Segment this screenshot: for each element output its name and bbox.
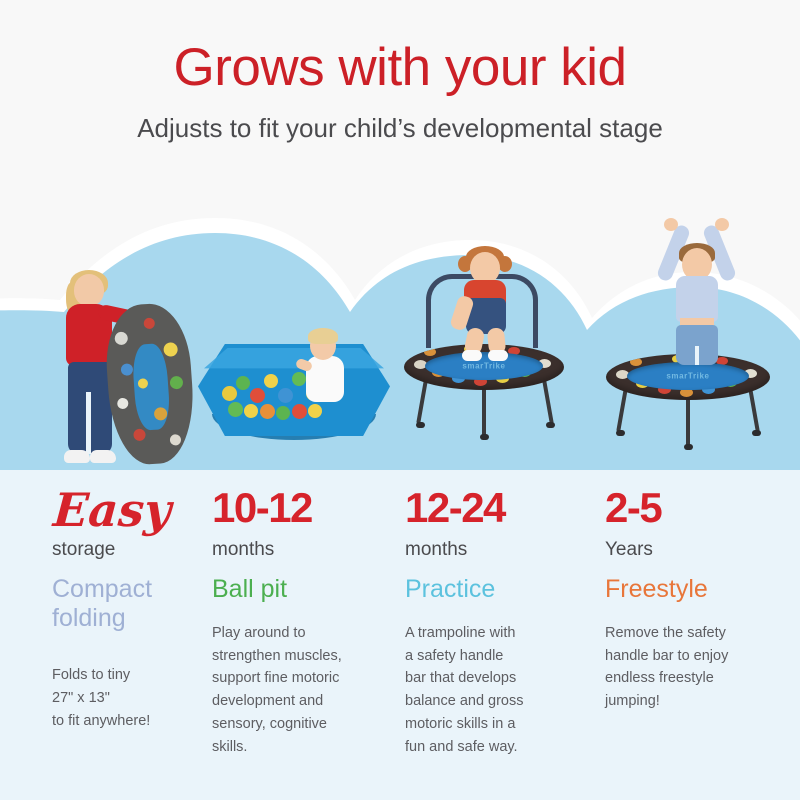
page-subheadline: Adjusts to fit your child’s developmenta… [0, 111, 800, 146]
photo-ball-pit [198, 326, 390, 444]
photo-boy-jumping [652, 218, 740, 364]
page-headline: Grows with your kid [0, 0, 800, 94]
description-1: Folds to tiny 27" x 13" to fit anywhere! [52, 664, 202, 733]
age-unit-1: storage [52, 540, 202, 561]
age-unit-2: months [212, 540, 387, 561]
age-label-1: Easy [52, 487, 205, 531]
feature-column-easy-storage: Easy storage Compact folding Folds to ti… [52, 487, 202, 733]
header: Grows with your kid Adjusts to fit your … [0, 0, 800, 146]
feature-column-ball-pit: 10-12 months Ball pit Play around to str… [212, 487, 387, 759]
age-unit-3: months [405, 540, 590, 561]
trampoline-brand-label: smarTrike [425, 362, 543, 371]
trampoline-freestyle: smarTrike [606, 354, 770, 450]
infographic-stage: Grows with your kid Adjusts to fit your … [0, 0, 800, 800]
folded-trampoline-bag [108, 304, 192, 464]
feature-column-practice: 12-24 months Practice A trampoline with … [405, 487, 590, 759]
description-4: Remove the safety handle bar to enjoy en… [605, 622, 780, 714]
mode-label-3: Practice [405, 575, 590, 604]
mode-label-1: Compact folding [52, 575, 202, 633]
mode-label-2: Ball pit [212, 575, 387, 604]
trampoline-brand-label-2: smarTrike [627, 372, 748, 381]
photo-toddler-on-trampoline [450, 248, 522, 358]
product-scene: smarTrike [0, 196, 800, 481]
age-label-3: 12-24 [405, 487, 590, 531]
age-label-2: 10-12 [212, 487, 387, 531]
mode-label-4: Freestyle [605, 575, 780, 604]
feature-column-freestyle: 2-5 Years Freestyle Remove the safety ha… [605, 487, 780, 713]
age-label-4: 2-5 [605, 487, 780, 531]
trampoline-with-handle-bar: smarTrike [404, 344, 564, 444]
feature-columns: Easy storage Compact folding Folds to ti… [0, 487, 800, 800]
age-unit-4: Years [605, 540, 780, 561]
description-3: A trampoline with a safety handle bar th… [405, 622, 590, 759]
description-2: Play around to strengthen muscles, suppo… [212, 622, 387, 759]
